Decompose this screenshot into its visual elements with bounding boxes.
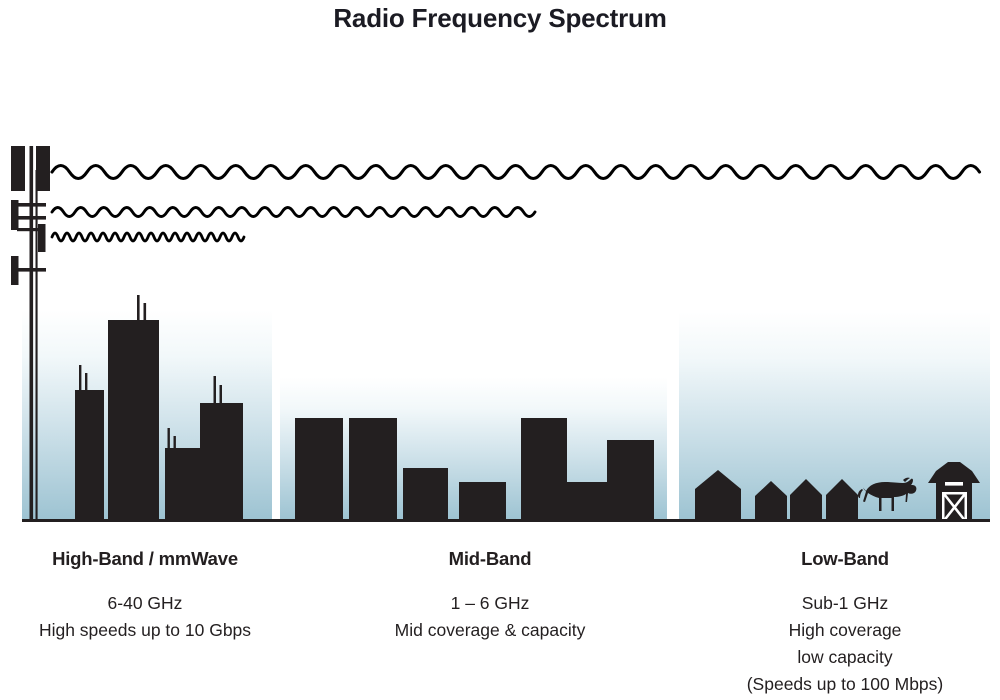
city-building bbox=[75, 390, 104, 520]
band-frequency-high-band: 6-40 GHz bbox=[0, 590, 290, 617]
band-label-mid-band: Mid-Band bbox=[340, 548, 640, 570]
band-frequency-mid-band: 1 – 6 GHz bbox=[340, 590, 640, 617]
band-speed-low-band: (Speeds up to 100 Mbps) bbox=[690, 671, 1000, 698]
ground-baseline bbox=[22, 519, 990, 522]
tower-mast-rail-left bbox=[30, 146, 34, 520]
band-label-high-band: High-Band / mmWave bbox=[0, 548, 290, 570]
low-frequency-wave bbox=[52, 166, 980, 179]
band-characteristic-high-band: High speeds up to 10 Gbps bbox=[0, 617, 290, 644]
city-building bbox=[607, 440, 654, 520]
city-building bbox=[295, 418, 343, 520]
radio-waves bbox=[52, 166, 980, 242]
tower-crossbar-4 bbox=[17, 268, 46, 272]
building-spire bbox=[79, 365, 81, 393]
band-characteristic-mid-band: Mid coverage & capacity bbox=[340, 617, 640, 644]
city-building bbox=[200, 403, 243, 520]
band-coverage-low-band: High coverage bbox=[690, 617, 1000, 644]
city-building bbox=[349, 418, 397, 520]
city-building bbox=[165, 448, 201, 520]
city-building bbox=[108, 320, 159, 520]
city-building bbox=[567, 482, 607, 520]
tower-crossbar-1 bbox=[17, 203, 46, 207]
building-spire bbox=[168, 428, 170, 451]
band-capacity-low-band: low capacity bbox=[690, 644, 1000, 671]
city-building bbox=[459, 482, 506, 520]
tower-antenna-panel-3 bbox=[11, 200, 19, 230]
building-spire bbox=[137, 295, 140, 323]
mid-frequency-wave bbox=[52, 208, 535, 217]
tower-mast-rail-right bbox=[36, 170, 38, 520]
tower-crossbar-3 bbox=[17, 228, 40, 231]
barn-hayloft-window bbox=[945, 482, 963, 486]
band-label-low-band: Low-Band bbox=[690, 548, 1000, 570]
building-spire bbox=[214, 376, 217, 406]
band-description-mid-band: 1 – 6 GHz Mid coverage & capacity bbox=[340, 590, 640, 644]
tower-antenna-panel-4 bbox=[38, 224, 46, 252]
tower-antenna-panel-5 bbox=[11, 256, 19, 285]
tower-antenna-panel-2 bbox=[36, 146, 50, 191]
band-description-low-band: Sub-1 GHz High coverage low capacity (Sp… bbox=[690, 590, 1000, 698]
high-frequency-wave bbox=[52, 233, 244, 241]
city-building bbox=[403, 468, 448, 520]
band-frequency-low-band: Sub-1 GHz bbox=[690, 590, 1000, 617]
band-description-high-band: 6-40 GHz High speeds up to 10 Gbps bbox=[0, 590, 290, 644]
building-spire bbox=[220, 385, 223, 406]
infographic-canvas: Radio Frequency Spectrum bbox=[0, 0, 1000, 700]
city-building bbox=[521, 418, 567, 520]
tower-antenna-panel-1 bbox=[11, 146, 25, 191]
tower-crossbar-2 bbox=[17, 216, 46, 220]
